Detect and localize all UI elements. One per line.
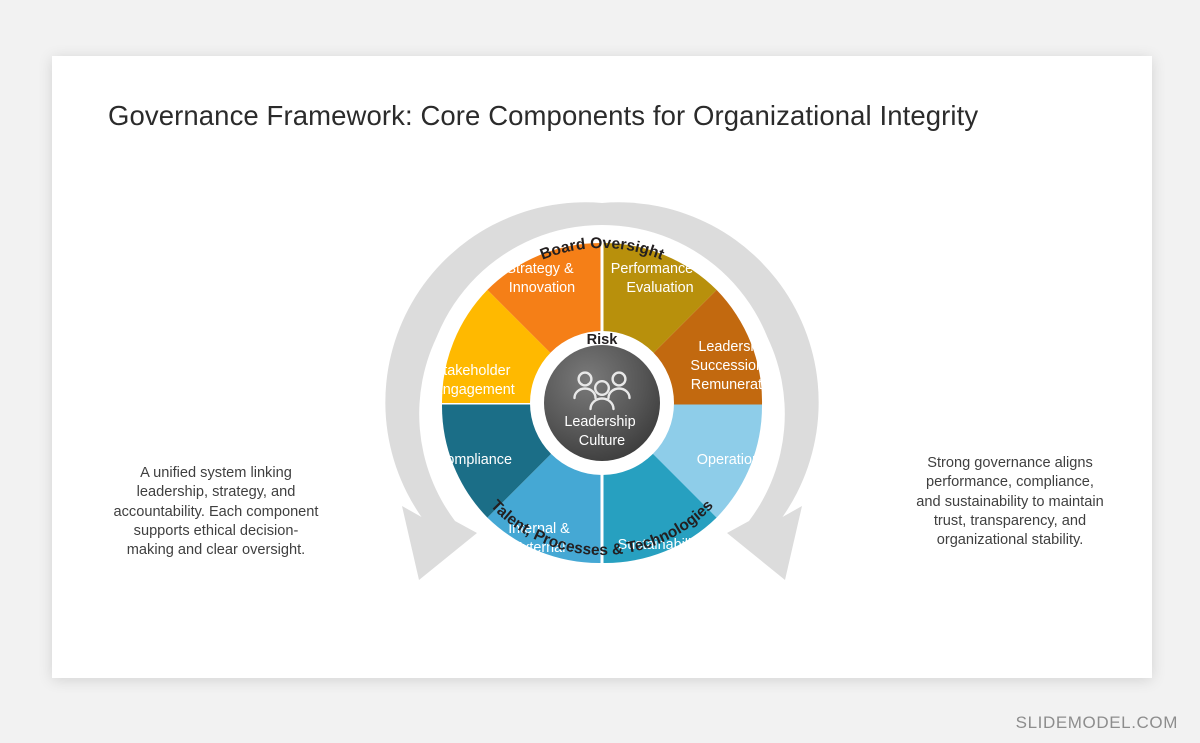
- segment-label-compliance: Compliance: [436, 452, 512, 468]
- page-title: Governance Framework: Core Components fo…: [108, 100, 1098, 132]
- wheel-svg: Performance $ Evaluation Leadership Succ…: [342, 148, 862, 638]
- slide-card: Governance Framework: Core Components fo…: [52, 56, 1152, 678]
- risk-label: Risk: [587, 332, 619, 348]
- right-description-text: Strong governance aligns performance, co…: [912, 454, 1108, 550]
- slide-page: Governance Framework: Core Components fo…: [0, 0, 1200, 743]
- segment-label-operations: Operations: [697, 452, 767, 468]
- segment-label-leadership-succession: Leadership Succession & Remuneration: [690, 339, 781, 393]
- brand-footer: SLIDEMODEL.COM: [1016, 713, 1178, 733]
- left-description-text: A unified system linking leadership, str…: [112, 464, 320, 560]
- governance-wheel-diagram: Performance $ Evaluation Leadership Succ…: [342, 148, 862, 638]
